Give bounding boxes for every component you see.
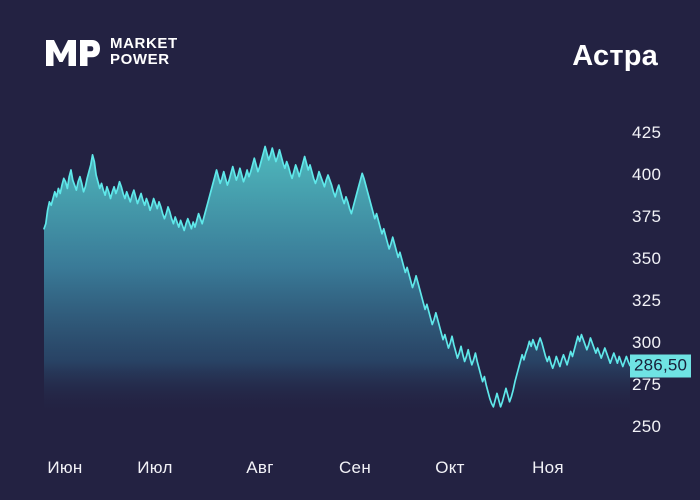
brand-line-2: POWER [110,52,178,68]
y-axis-tick: 325 [632,291,661,311]
x-axis-tick: Авг [246,458,273,478]
price-chart [0,100,700,440]
brand-line-1: MARKET [110,36,178,52]
y-axis: 425400375350325300275250286,50 [632,100,700,440]
y-axis-tick: 400 [632,165,661,185]
x-axis-tick: Июн [47,458,82,478]
page-title: Астра [572,40,658,73]
price-chart-svg [0,100,700,440]
y-axis-tick: 300 [632,333,661,353]
mp-monogram-icon [44,36,100,68]
y-axis-tick: 375 [632,207,661,227]
y-axis-tick: 275 [632,375,661,395]
x-axis-tick: Ноя [532,458,564,478]
current-price-badge: 286,50 [630,354,691,377]
x-axis: ИюнИюлАвгСенОктНоя [0,458,700,488]
price-area-fill [44,146,630,415]
chart-screenshot: MARKET POWER Астра 425400375350325300275… [0,0,700,500]
brand-wordmark: MARKET POWER [110,36,178,67]
y-axis-tick: 425 [632,123,661,143]
brand-logo: MARKET POWER [44,36,178,68]
x-axis-tick: Июл [137,458,172,478]
y-axis-tick: 250 [632,417,661,437]
x-axis-tick: Сен [339,458,371,478]
header: MARKET POWER Астра [0,0,700,100]
y-axis-tick: 350 [632,249,661,269]
x-axis-tick: Окт [435,458,465,478]
